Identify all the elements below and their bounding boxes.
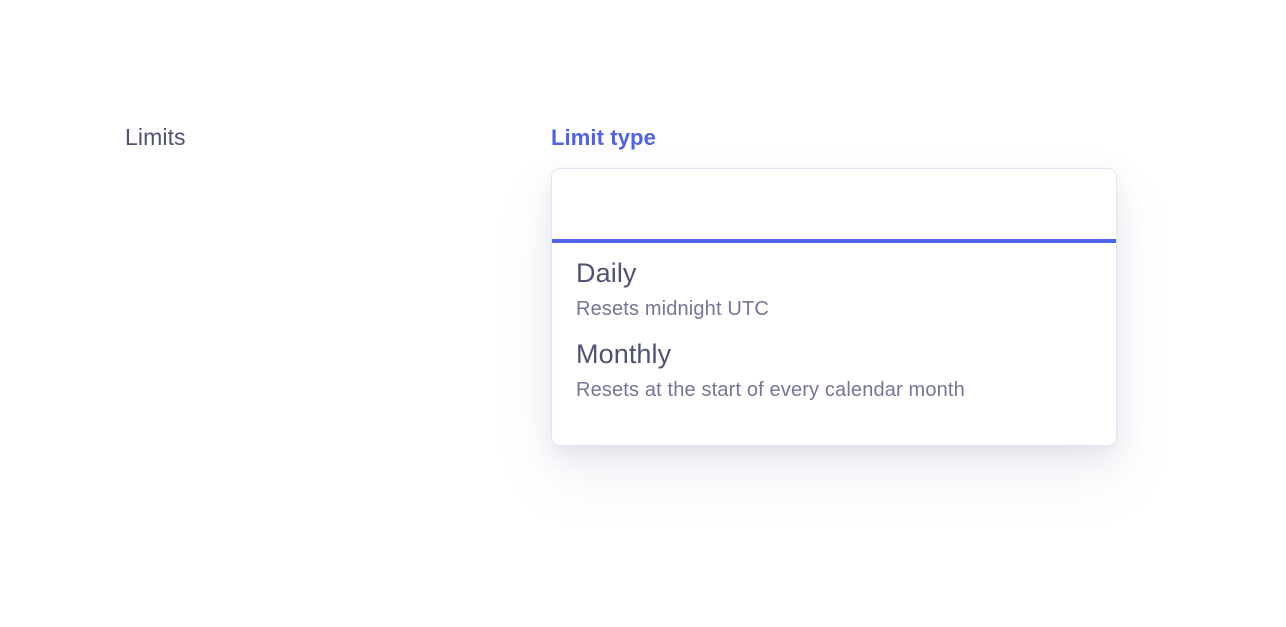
option-description: Resets at the start of every calendar mo… (576, 373, 1092, 416)
option-daily[interactable]: Daily Resets midnight UTC (552, 254, 1116, 335)
limit-type-input[interactable] (576, 189, 1092, 223)
option-title: Daily (576, 254, 1092, 292)
limit-type-form-row: Limits Limit type Daily Resets midnight … (0, 0, 1286, 627)
limit-type-field-label: Limit type (551, 125, 656, 151)
option-title: Monthly (576, 335, 1092, 373)
limit-type-select-dropdown: Daily Resets midnight UTC Monthly Resets… (551, 168, 1117, 446)
limit-type-option-list: Daily Resets midnight UTC Monthly Resets… (552, 243, 1116, 416)
limit-type-input-area[interactable] (552, 169, 1116, 243)
option-monthly[interactable]: Monthly Resets at the start of every cal… (552, 335, 1116, 416)
limits-section-label: Limits (125, 124, 186, 151)
option-description: Resets midnight UTC (576, 292, 1092, 335)
